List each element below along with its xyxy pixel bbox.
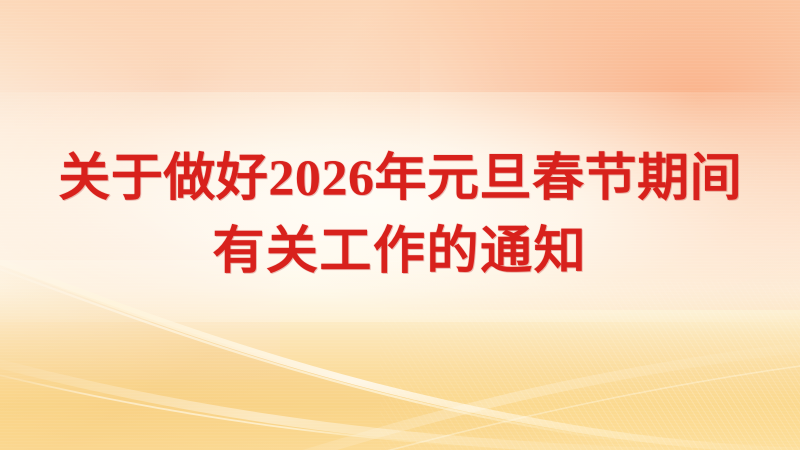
- poster-title-line-1: 关于做好2026年元旦春节期间: [58, 154, 742, 205]
- poster-title-block: 关于做好2026年元旦春节期间 有关工作的通知: [0, 0, 800, 450]
- poster-title-line-2: 有关工作的通知: [213, 227, 588, 278]
- notice-poster: 关于做好2026年元旦春节期间 有关工作的通知: [0, 0, 800, 450]
